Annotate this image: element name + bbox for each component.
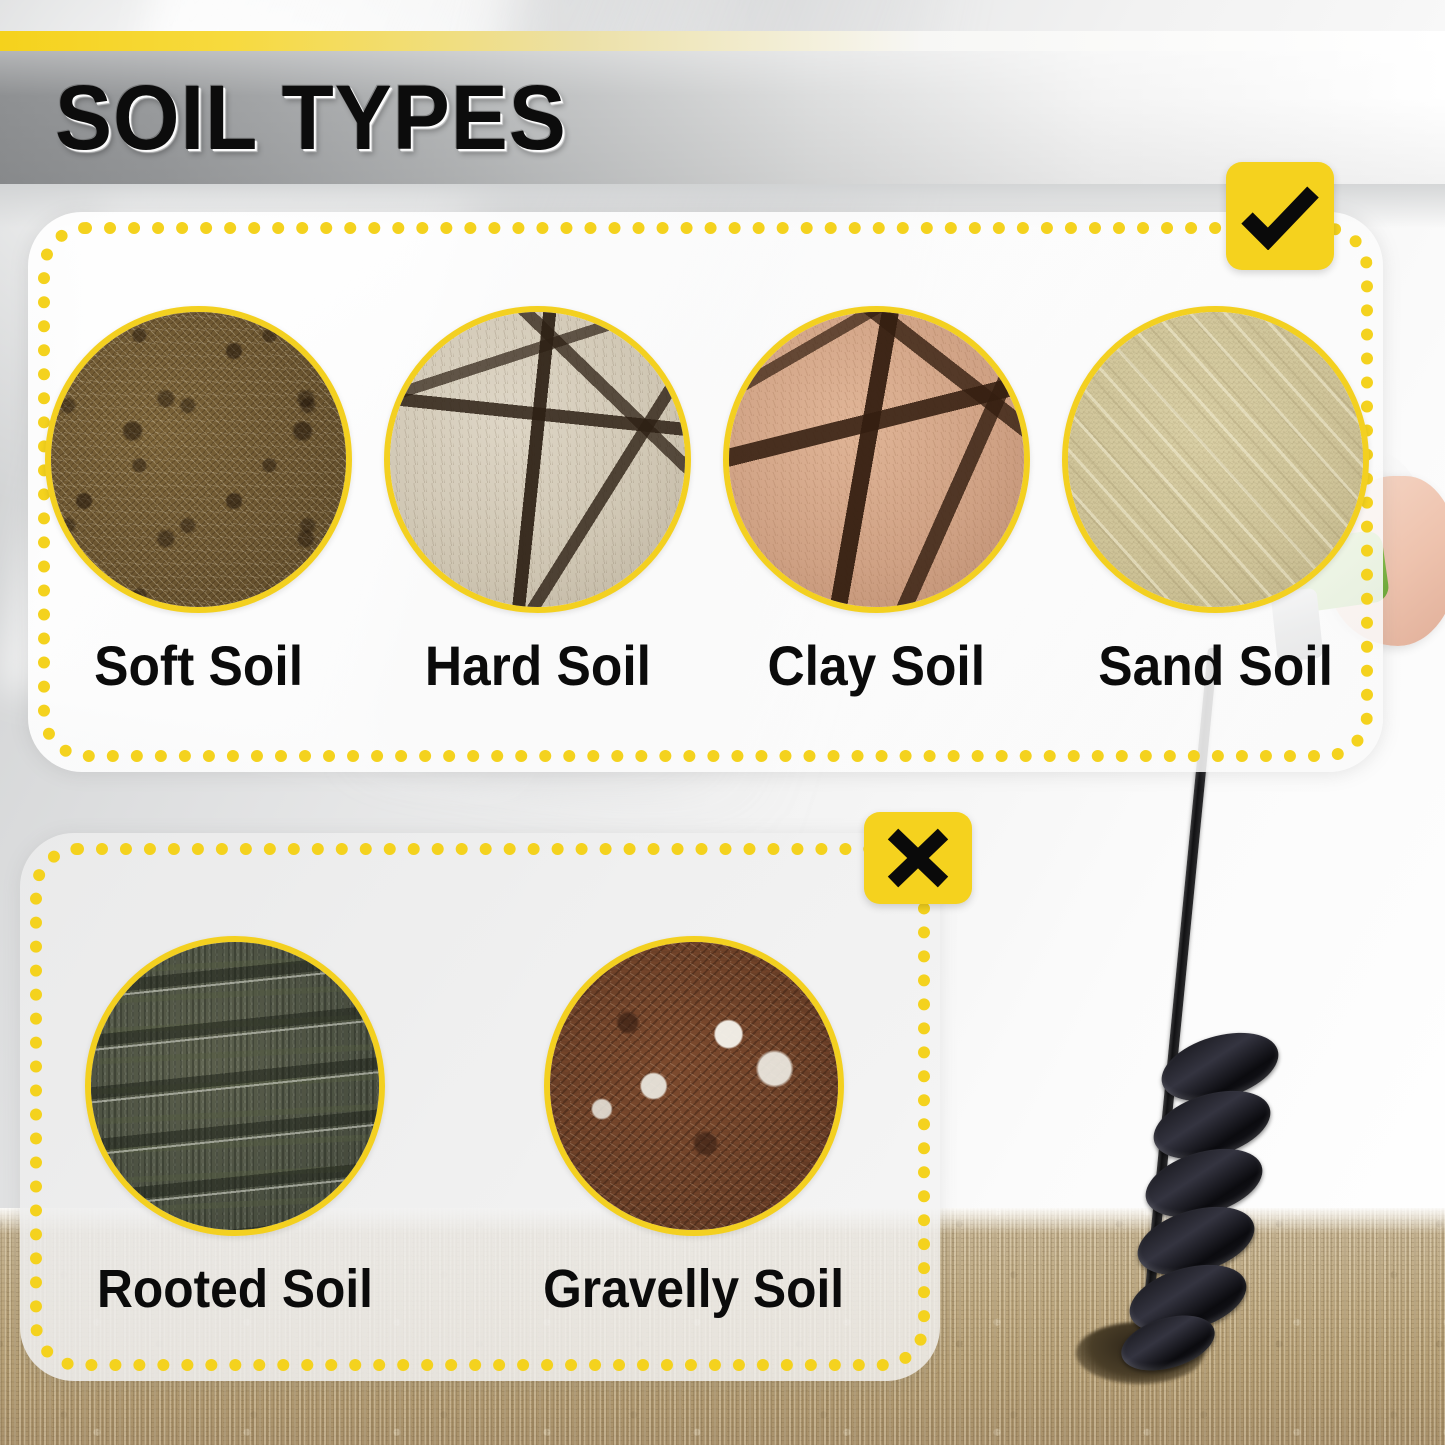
soil-label-gravelly: Gravelly Soil bbox=[543, 1258, 844, 1320]
soil-image-clay bbox=[723, 306, 1030, 613]
soil-image-sand bbox=[1062, 306, 1369, 613]
soil-card-soft[interactable]: Soft Soil bbox=[45, 306, 352, 697]
cross-icon bbox=[864, 812, 972, 904]
header-accent-strip bbox=[0, 31, 1445, 51]
soil-card-sand[interactable]: Sand Soil bbox=[1062, 306, 1369, 697]
soil-label-clay: Clay Soil bbox=[768, 635, 986, 697]
soil-image-hard bbox=[384, 306, 691, 613]
soil-card-clay[interactable]: Clay Soil bbox=[723, 306, 1030, 697]
soil-label-rooted: Rooted Soil bbox=[97, 1258, 373, 1320]
soil-image-soft bbox=[45, 306, 352, 613]
soil-label-sand: Sand Soil bbox=[1098, 635, 1333, 697]
soil-card-hard[interactable]: Hard Soil bbox=[384, 306, 691, 697]
unsuitable-soil-row: Rooted Soil Gravelly Soil bbox=[85, 936, 885, 1320]
soil-card-rooted[interactable]: Rooted Soil bbox=[85, 936, 385, 1320]
suitable-soil-row: Soft Soil Hard Soil Clay Soil Sand Soil bbox=[45, 306, 1375, 697]
soil-label-hard: Hard Soil bbox=[424, 635, 650, 697]
infographic-canvas: SOIL TYPES Soft Soil Hard Soil Clay Soil… bbox=[0, 0, 1445, 1445]
page-title: SOIL TYPES bbox=[55, 62, 567, 174]
soil-image-gravelly bbox=[544, 936, 844, 1236]
check-icon bbox=[1226, 162, 1334, 270]
soil-card-gravelly[interactable]: Gravelly Soil bbox=[530, 936, 857, 1320]
soil-label-soft: Soft Soil bbox=[94, 635, 303, 697]
soil-image-rooted bbox=[85, 936, 385, 1236]
